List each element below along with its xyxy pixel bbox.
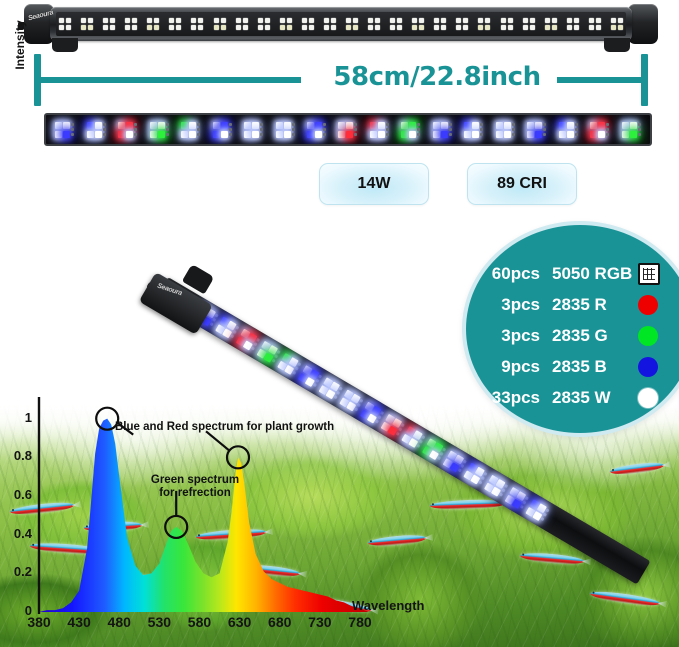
led-dot	[181, 122, 188, 129]
led-column	[567, 122, 574, 138]
led-specification-circle: 60pcs5050 RGB3pcs2835 R3pcs2835 G9pcs283…	[462, 221, 679, 437]
led-column	[252, 122, 259, 138]
led-dot-small	[540, 517, 544, 521]
led-chip	[221, 18, 226, 23]
led-chip	[501, 18, 506, 23]
led-dot	[213, 122, 220, 129]
led-chip-row	[545, 18, 557, 23]
led-chip-row	[324, 25, 336, 30]
led-chip	[236, 18, 241, 23]
led-dot	[496, 131, 503, 138]
led-dot-small	[292, 133, 295, 136]
led-dot	[221, 122, 228, 129]
led-dot	[622, 131, 629, 138]
led-dot	[590, 131, 597, 138]
led-chip-row	[589, 18, 601, 23]
led-dot	[276, 122, 283, 129]
led-dot-small	[354, 123, 357, 126]
led-dot-small	[575, 128, 578, 131]
led-cluster	[464, 122, 483, 138]
led-chip	[368, 25, 373, 30]
led-micro-column	[260, 123, 263, 136]
led-micro-column	[197, 123, 200, 136]
spec-led-type: 2835 W	[552, 388, 638, 408]
led-chip	[243, 18, 248, 23]
led-chip-row	[169, 18, 181, 23]
led-chip	[589, 25, 594, 30]
led-chip	[132, 25, 137, 30]
annotation-green-line1: Green spectrum	[151, 474, 239, 486]
led-dot-small	[318, 374, 322, 378]
led-chip-group	[324, 18, 336, 30]
led-dot	[472, 131, 479, 138]
led-dot-small	[235, 326, 239, 330]
led-chip	[545, 25, 550, 30]
led-chip	[132, 18, 137, 23]
led-chip-row	[501, 25, 513, 30]
led-column	[158, 122, 165, 138]
led-dot	[464, 122, 471, 129]
led-chip	[390, 18, 395, 23]
led-chip	[125, 25, 130, 30]
led-chip-row	[611, 25, 623, 30]
led-chip-row	[103, 25, 115, 30]
led-chip-row	[545, 25, 557, 30]
led-chip	[66, 18, 71, 23]
chart-x-tick: 630	[220, 614, 260, 630]
led-chip-row	[368, 25, 380, 30]
led-chip-group	[214, 18, 226, 30]
led-column	[622, 122, 629, 138]
spec-color-swatch	[638, 326, 658, 346]
led-dot	[118, 131, 125, 138]
led-chip	[110, 18, 115, 23]
led-cluster	[55, 122, 74, 138]
led-dot	[55, 131, 62, 138]
annotation-green: Green spectrum for refrection	[150, 474, 240, 500]
led-dot	[189, 122, 196, 129]
led-chip	[287, 18, 292, 23]
led-dot-small	[253, 342, 257, 346]
led-dot	[118, 122, 125, 129]
chart-x-tick: 730	[300, 614, 340, 630]
led-chip	[346, 18, 351, 23]
led-cluster	[87, 122, 106, 138]
led-dot-small	[295, 367, 299, 371]
led-dot-small	[512, 128, 515, 131]
led-chip	[353, 25, 358, 30]
led-chip-row	[324, 18, 336, 23]
led-dot	[433, 122, 440, 129]
led-dot	[378, 122, 385, 129]
dimension-tick-right	[641, 54, 648, 106]
led-chip	[574, 25, 579, 30]
spec-led-type: 2835 G	[552, 326, 638, 346]
led-chip-row	[59, 25, 71, 30]
led-chip-row	[280, 25, 292, 30]
led-dot	[527, 131, 534, 138]
dimension-line-right	[557, 77, 643, 83]
led-cluster	[485, 475, 509, 498]
led-dot-small	[166, 123, 169, 126]
led-chip-group	[236, 18, 248, 30]
dimension-line-left	[39, 77, 301, 83]
led-micro-column	[354, 123, 357, 136]
led-dot-small	[297, 362, 301, 366]
chart-y-tick: 0.2	[2, 564, 32, 579]
led-dot-small	[233, 330, 237, 334]
led-chip	[441, 18, 446, 23]
led-dot	[307, 131, 314, 138]
led-chip	[456, 25, 461, 30]
led-dot	[158, 122, 165, 129]
led-dot	[315, 131, 322, 138]
led-chip	[434, 25, 439, 30]
chart-y-tick: 0.6	[2, 487, 32, 502]
led-chip	[331, 25, 336, 30]
led-dot-small	[71, 133, 74, 136]
led-dot	[598, 131, 605, 138]
led-dot	[95, 122, 102, 129]
led-dot-small	[449, 128, 452, 131]
led-dot-small	[575, 133, 578, 136]
led-chip-row	[125, 25, 137, 30]
led-cluster	[338, 122, 357, 138]
led-micro-column	[386, 123, 389, 136]
led-dot	[433, 131, 440, 138]
led-dot	[409, 131, 416, 138]
led-chip	[214, 18, 219, 23]
led-dot	[370, 131, 377, 138]
led-chip-row	[59, 18, 71, 23]
annotation-green-line2: for refrection	[159, 487, 231, 499]
annotation-blue-red: Blue and Red spectrum for plant growth	[115, 421, 334, 434]
led-chip	[191, 18, 196, 23]
led-chip	[552, 18, 557, 23]
led-chip	[508, 25, 513, 30]
led-dot	[472, 122, 479, 129]
led-chip	[419, 18, 424, 23]
led-cluster	[278, 353, 302, 376]
brand-logo: Seaoura	[156, 282, 183, 298]
led-column	[630, 122, 637, 138]
led-chip-row	[236, 18, 248, 23]
led-chip-row	[368, 18, 380, 23]
led-chip	[567, 25, 572, 30]
led-dot	[346, 122, 353, 129]
led-dot	[55, 122, 62, 129]
led-dot-small	[522, 501, 526, 505]
led-column	[276, 122, 283, 138]
led-chip	[154, 18, 159, 23]
led-column	[189, 122, 196, 138]
chart-x-axis-label: Wavelength	[352, 598, 424, 613]
led-column	[401, 122, 408, 138]
led-dot	[409, 122, 416, 129]
led-dot-small	[440, 452, 444, 456]
led-dot-small	[386, 123, 389, 126]
led-column	[284, 122, 291, 138]
led-dot-small	[229, 133, 232, 136]
led-dot	[370, 122, 377, 129]
led-chip	[412, 25, 417, 30]
led-chip	[176, 18, 181, 23]
led-dot-small	[480, 133, 483, 136]
led-chip-row	[258, 18, 270, 23]
led-micro-column	[103, 123, 106, 136]
led-chip	[346, 25, 351, 30]
led-dot-small	[543, 128, 546, 131]
led-chip	[258, 25, 263, 30]
led-dot	[252, 131, 259, 138]
led-chip-row	[258, 25, 270, 30]
led-cluster	[307, 122, 326, 138]
led-dot-small	[449, 123, 452, 126]
infographic-canvas: Seaoura 58cm/22.8inch 14W 89 CRI Seaoura…	[0, 0, 679, 647]
led-dot-small	[272, 359, 276, 363]
led-dot-small	[323, 128, 326, 131]
led-column	[504, 122, 511, 138]
led-dot-small	[230, 334, 234, 338]
led-column	[346, 122, 353, 138]
chart-x-tick: 430	[59, 614, 99, 630]
led-chip	[309, 18, 314, 23]
led-chip	[375, 25, 380, 30]
led-cluster	[622, 122, 641, 138]
led-chip	[574, 18, 579, 23]
led-dot-small	[323, 133, 326, 136]
led-column	[472, 122, 479, 138]
led-dot-small	[292, 128, 295, 131]
led-dot-small	[638, 133, 641, 136]
led-micro-column	[449, 123, 452, 136]
led-chip	[59, 25, 64, 30]
led-dot-small	[71, 123, 74, 126]
led-dot	[598, 122, 605, 129]
led-chip	[441, 25, 446, 30]
led-column	[496, 122, 503, 138]
led-dot-small	[606, 123, 609, 126]
led-chip	[236, 25, 241, 30]
chart-x-tick: 530	[139, 614, 179, 630]
led-chip	[478, 25, 483, 30]
led-dot-small	[134, 133, 137, 136]
led-chip	[618, 25, 623, 30]
led-column	[244, 122, 251, 138]
led-dot	[284, 122, 291, 129]
led-dot	[504, 131, 511, 138]
led-chip	[66, 25, 71, 30]
led-column	[126, 122, 133, 138]
spec-color-swatch	[638, 357, 658, 377]
led-dot	[535, 131, 542, 138]
led-dot	[95, 131, 102, 138]
led-chip-row	[346, 25, 358, 30]
led-column	[598, 122, 605, 138]
led-chip	[287, 25, 292, 30]
led-chip-row	[147, 25, 159, 30]
led-dot-small	[386, 128, 389, 131]
led-chip-row	[214, 25, 226, 30]
led-chip-row	[434, 18, 446, 23]
led-dot-small	[260, 133, 263, 136]
led-chip	[265, 25, 270, 30]
led-dot-small	[575, 123, 578, 126]
led-chip	[147, 18, 152, 23]
led-chip	[390, 25, 395, 30]
led-column	[95, 122, 102, 138]
led-dot-small	[251, 346, 255, 350]
led-chip-group	[346, 18, 358, 30]
led-chip-group	[412, 18, 424, 30]
chart-x-tick: 780	[340, 614, 380, 630]
led-chip	[169, 18, 174, 23]
led-dot	[252, 122, 259, 129]
specification-row: 3pcs2835 G	[480, 320, 679, 351]
led-cluster	[527, 122, 546, 138]
led-chip-row	[214, 18, 226, 23]
led-cluster	[257, 341, 281, 364]
led-chip	[611, 18, 616, 23]
led-chip	[59, 18, 64, 23]
spec-color-swatch	[638, 295, 658, 315]
led-dot-small	[606, 133, 609, 136]
led-chip	[198, 25, 203, 30]
led-chip-row	[567, 25, 579, 30]
led-dot-small	[323, 123, 326, 126]
led-chip	[103, 18, 108, 23]
led-chip-group	[147, 18, 159, 30]
led-chip	[463, 25, 468, 30]
led-dot	[126, 131, 133, 138]
led-dot	[630, 131, 637, 138]
led-chip	[478, 18, 483, 23]
led-chip-row	[191, 25, 203, 30]
led-chip	[501, 25, 506, 30]
led-bar-unlit: Seaoura	[24, 4, 658, 44]
led-chip	[618, 18, 623, 23]
chart-x-tick: 380	[19, 614, 59, 630]
led-chip	[397, 25, 402, 30]
led-cluster	[464, 462, 488, 485]
led-chip	[523, 18, 528, 23]
led-dot	[221, 131, 228, 138]
led-column	[181, 122, 188, 138]
spec-quantity: 3pcs	[480, 295, 552, 315]
led-chip	[169, 25, 174, 30]
led-dot-small	[229, 128, 232, 131]
led-chip-group	[81, 18, 93, 30]
led-chip-row	[236, 25, 248, 30]
led-chip-array	[56, 12, 626, 36]
led-dot-small	[315, 379, 319, 383]
led-dot	[401, 131, 408, 138]
led-chip-group	[478, 18, 490, 30]
led-chip	[530, 25, 535, 30]
led-cluster	[181, 122, 200, 138]
spec-led-type: 5050 RGB	[552, 264, 638, 284]
led-chip	[88, 25, 93, 30]
led-dot	[527, 122, 534, 129]
led-micro-column	[229, 123, 232, 136]
led-micro-column	[606, 123, 609, 136]
led-dot-small	[103, 128, 106, 131]
led-dot	[150, 122, 157, 129]
led-dot-small	[166, 133, 169, 136]
led-chip	[214, 25, 219, 30]
led-chip	[243, 25, 248, 30]
led-dot	[338, 122, 345, 129]
led-chip-group	[258, 18, 270, 30]
led-chip	[280, 25, 285, 30]
led-chip-row	[523, 18, 535, 23]
led-chip	[596, 18, 601, 23]
led-cluster	[422, 438, 446, 461]
led-dot	[590, 122, 597, 129]
led-chip	[456, 18, 461, 23]
led-dot-small	[606, 128, 609, 131]
led-chip-row	[611, 18, 623, 23]
led-dot-small	[442, 447, 446, 451]
spec-color-swatch	[638, 388, 658, 408]
led-chip-row	[81, 25, 93, 30]
dimension-measurement: 58cm/22.8inch	[34, 54, 648, 106]
led-dot	[307, 122, 314, 129]
led-dot	[464, 131, 471, 138]
led-chip-group	[169, 18, 181, 30]
led-chip-group	[103, 18, 115, 30]
led-chip-group	[523, 18, 535, 30]
led-chip	[375, 18, 380, 23]
led-dot	[150, 131, 157, 138]
led-column	[307, 122, 314, 138]
chart-y-tick: 0.4	[2, 526, 32, 541]
led-dot-small	[103, 123, 106, 126]
led-column	[213, 122, 220, 138]
led-chip-row	[412, 25, 424, 30]
led-micro-column	[543, 123, 546, 136]
led-dot	[535, 122, 542, 129]
led-dot-small	[197, 128, 200, 131]
led-chip-row	[302, 18, 314, 23]
led-dot-small	[463, 460, 467, 464]
led-chip	[567, 18, 572, 23]
led-chip	[324, 25, 329, 30]
specification-row: 33pcs2835 W	[480, 382, 679, 413]
rgb-chip-icon	[638, 263, 660, 285]
led-micro-column	[480, 123, 483, 136]
led-micro-column	[575, 123, 578, 136]
led-cluster	[370, 122, 389, 138]
led-chip	[81, 18, 86, 23]
led-dot	[315, 122, 322, 129]
led-bar-illuminated	[44, 113, 652, 146]
led-chip-group	[545, 18, 557, 30]
led-dot	[126, 122, 133, 129]
led-column	[441, 122, 448, 138]
led-chip	[545, 18, 550, 23]
led-column	[150, 122, 157, 138]
spec-quantity: 33pcs	[480, 388, 552, 408]
end-cap-right	[628, 4, 658, 44]
led-dot-small	[512, 123, 515, 126]
led-cluster	[298, 365, 322, 388]
led-cluster	[236, 328, 260, 351]
spec-quantity: 9pcs	[480, 357, 552, 377]
led-chip	[596, 25, 601, 30]
led-dot-small	[512, 133, 515, 136]
led-dot-small	[354, 128, 357, 131]
